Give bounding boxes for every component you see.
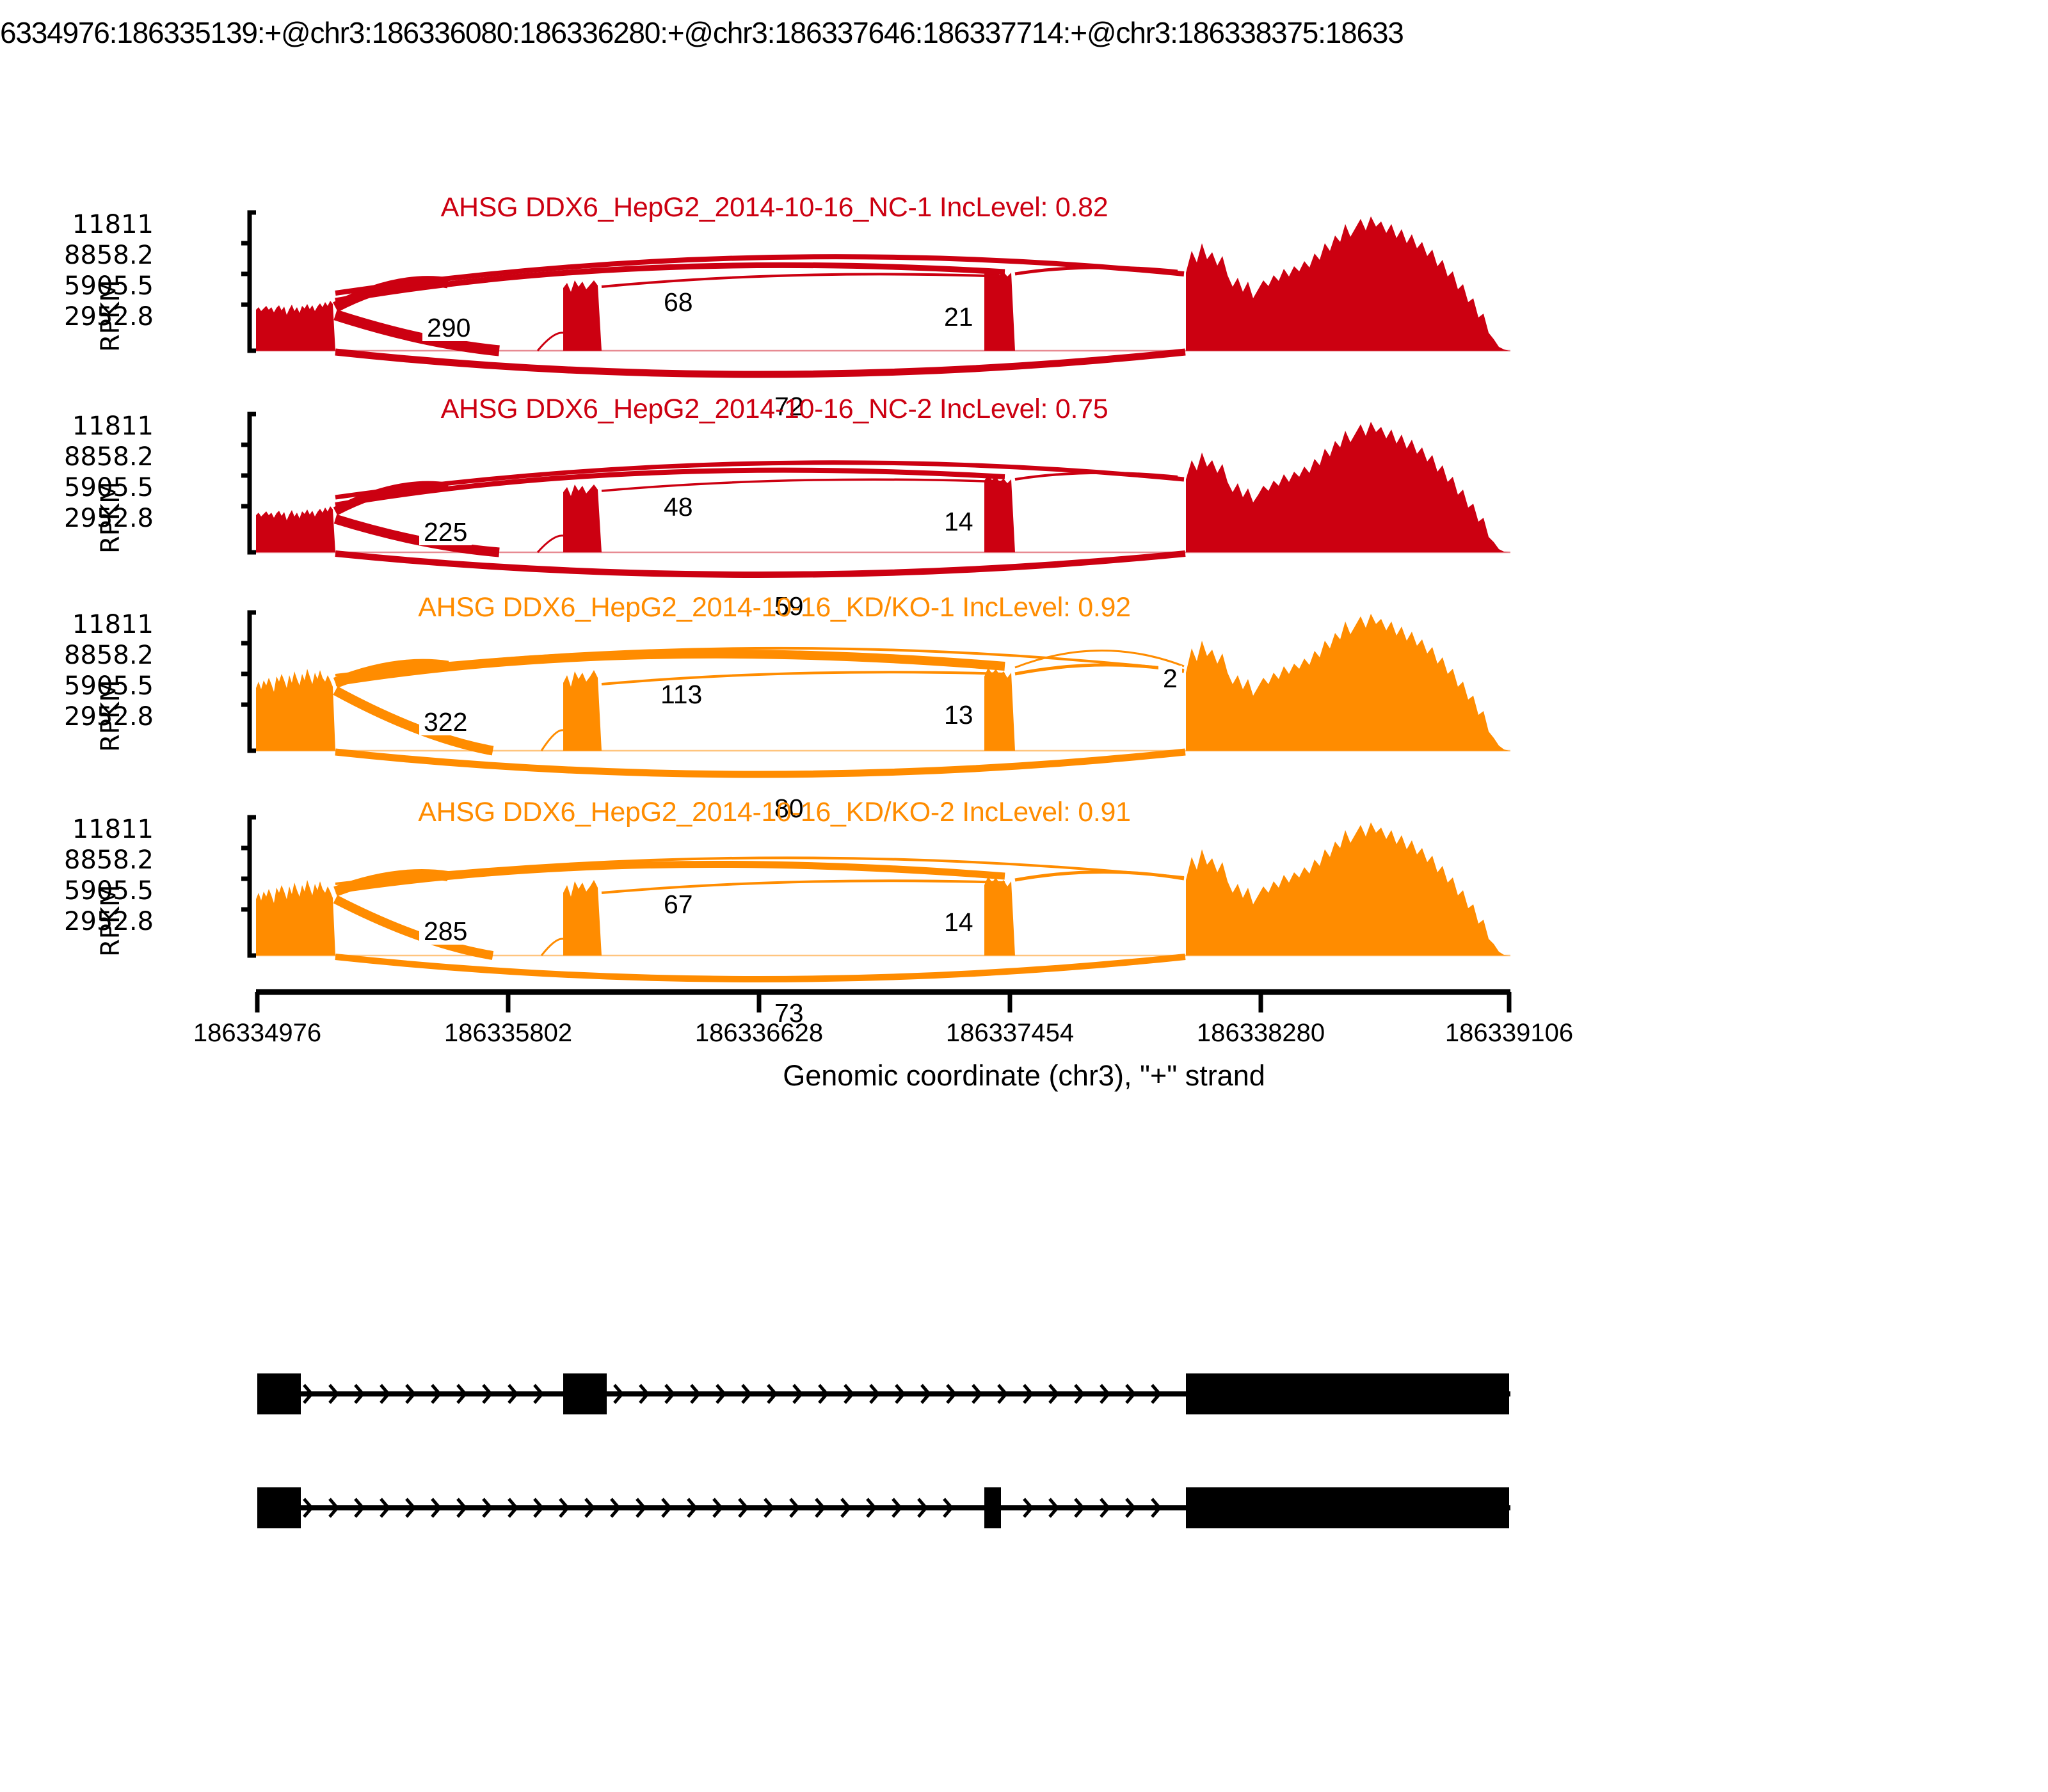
junction-label-kdko-1-2: 2 bbox=[1158, 666, 1182, 692]
coverage-exon1-kdko-2 bbox=[256, 880, 335, 956]
junction-label-nc-1-68: 68 bbox=[659, 289, 698, 316]
exon-block bbox=[1186, 1487, 1509, 1528]
coverage-exon2-nc-1 bbox=[563, 280, 602, 351]
y-tick-kdko-2-3: 2952.8 bbox=[38, 907, 154, 936]
x-tick-4: 186338280 bbox=[1158, 1019, 1363, 1048]
coverage-exon2-kdko-1 bbox=[563, 670, 602, 751]
y-tick-nc-1-3: 2952.8 bbox=[38, 302, 154, 332]
coverage-exon3-kdko-2 bbox=[984, 876, 1015, 956]
junction-arc-80-kdko-1 bbox=[335, 752, 1185, 774]
x-tick-2: 186336628 bbox=[657, 1019, 861, 1048]
junction-label-kdko-2-285: 285 bbox=[419, 918, 472, 945]
coverage-exon3-nc-1 bbox=[984, 268, 1015, 351]
junction-arc-72-nc-1 bbox=[335, 352, 1185, 374]
x-tick-5: 186339106 bbox=[1407, 1019, 1612, 1048]
y-tick-nc-2-0: 11811 bbox=[38, 412, 154, 441]
junction-label-kdko-1-113: 113 bbox=[656, 682, 707, 708]
coverage-exon1-kdko-1 bbox=[256, 669, 335, 751]
junction-arc-113-kdko-1 bbox=[335, 654, 1005, 682]
y-tick-nc-2-3: 2952.8 bbox=[38, 504, 154, 533]
y-tick-nc-1-0: 11811 bbox=[38, 210, 154, 239]
exon-block bbox=[257, 1487, 301, 1528]
coverage-exon4-kdko-1 bbox=[1186, 614, 1509, 751]
junction-label-kdko-1-322: 322 bbox=[419, 709, 472, 735]
y-tick-nc-1-1: 8858.2 bbox=[38, 241, 154, 270]
junction-arc-73-kdko-2 bbox=[335, 957, 1185, 979]
y-axis-spine-nc-1 bbox=[241, 212, 256, 351]
y-axis-spine-kdko-2 bbox=[241, 817, 256, 956]
exon-block bbox=[1186, 1373, 1509, 1414]
gene-model-isoform-skipping bbox=[257, 1487, 1510, 1528]
coverage-exon3-kdko-1 bbox=[984, 668, 1015, 751]
coverage-track-kdko-2 bbox=[179, 810, 1587, 995]
y-tick-nc-2-1: 8858.2 bbox=[38, 442, 154, 472]
coverage-panel-nc-2: AHSG DDX6_HepG2_2014-10-16_NC-2 IncLevel… bbox=[0, 394, 2048, 579]
gene-model-isoform-inclusion bbox=[257, 1373, 1510, 1414]
y-tick-kdko-1-2: 5905.5 bbox=[38, 671, 154, 701]
y-tick-kdko-2-2: 5905.5 bbox=[38, 876, 154, 906]
y-tick-kdko-1-1: 8858.2 bbox=[38, 641, 154, 670]
x-tick-1: 186335802 bbox=[406, 1019, 611, 1048]
coverage-panel-kdko-2: AHSG DDX6_HepG2_2014-10-16_KD/KO-2 IncLe… bbox=[0, 797, 2048, 982]
coverage-exon4-kdko-2 bbox=[1186, 822, 1509, 956]
exon-block bbox=[257, 1373, 301, 1414]
coverage-track-kdko-1 bbox=[179, 605, 1587, 790]
coverage-exon4-nc-1 bbox=[1186, 216, 1509, 351]
junction-label-kdko-2-14: 14 bbox=[940, 909, 978, 936]
coverage-track-nc-1 bbox=[179, 205, 1587, 390]
coverage-exon4-nc-2 bbox=[1186, 422, 1509, 552]
junction-arc-14b-nc-2 bbox=[602, 479, 1005, 491]
sashimi-plot-figure: 6334976:186335139:+@chr3:186336080:18633… bbox=[0, 0, 2048, 1792]
x-axis-ticks bbox=[257, 992, 1509, 1012]
y-axis-spine-kdko-1 bbox=[241, 612, 256, 751]
junction-label-nc-2-48: 48 bbox=[659, 494, 698, 520]
junction-arc-small-nc-2 bbox=[538, 536, 563, 552]
coverage-exon1-nc-2 bbox=[256, 506, 335, 552]
x-axis-title: Genomic coordinate (chr3), "+" strand bbox=[0, 1059, 2048, 1092]
y-tick-kdko-2-0: 11811 bbox=[38, 815, 154, 844]
junction-arc-small-kdko-1 bbox=[541, 730, 563, 751]
coverage-panel-kdko-1: AHSG DDX6_HepG2_2014-10-16_KD/KO-1 IncLe… bbox=[0, 592, 2048, 778]
y-tick-kdko-1-3: 2952.8 bbox=[38, 702, 154, 732]
coverage-track-nc-2 bbox=[179, 406, 1587, 592]
junction-arc-21b-nc-1 bbox=[602, 274, 1005, 287]
coverage-panel-nc-1: AHSG DDX6_HepG2_2014-10-16_NC-1 IncLevel… bbox=[0, 192, 2048, 378]
coverage-exon2-kdko-2 bbox=[563, 880, 602, 956]
junction-arc-small-nc-1 bbox=[538, 333, 563, 351]
junction-label-nc-2-14: 14 bbox=[940, 509, 978, 535]
y-tick-nc-2-2: 5905.5 bbox=[38, 473, 154, 502]
y-tick-nc-1-2: 5905.5 bbox=[38, 271, 154, 301]
junction-arc-67-kdko-2 bbox=[335, 864, 1005, 890]
gene-model-track bbox=[179, 1357, 1651, 1613]
junction-label-nc-1-21: 21 bbox=[940, 304, 978, 330]
junction-arc-thick-nc-2 bbox=[335, 519, 499, 552]
junction-label-nc-2-225: 225 bbox=[419, 519, 472, 545]
y-tick-kdko-2-1: 8858.2 bbox=[38, 845, 154, 875]
x-tick-3: 186337454 bbox=[908, 1019, 1112, 1048]
coverage-exon1-nc-1 bbox=[256, 301, 335, 351]
genomic-coordinates-header: 6334976:186335139:+@chr3:186336080:18633… bbox=[0, 15, 2048, 50]
y-axis-spine-nc-2 bbox=[241, 414, 256, 552]
junction-label-kdko-1-13: 13 bbox=[940, 702, 978, 728]
exon-block bbox=[984, 1487, 1001, 1528]
coverage-exon3-nc-2 bbox=[984, 475, 1015, 552]
junction-arc-upper-right-nc-1 bbox=[335, 257, 1184, 293]
coverage-exon2-nc-2 bbox=[563, 484, 602, 552]
junction-label-kdko-2-67: 67 bbox=[659, 892, 698, 918]
y-tick-kdko-1-0: 11811 bbox=[38, 610, 154, 639]
junction-arc-small-kdko-2 bbox=[541, 939, 563, 956]
junction-label-nc-1-290: 290 bbox=[422, 315, 475, 341]
junction-arc-59-nc-2 bbox=[335, 554, 1185, 575]
x-tick-0: 186334976 bbox=[155, 1019, 360, 1048]
exon-block bbox=[563, 1373, 607, 1414]
